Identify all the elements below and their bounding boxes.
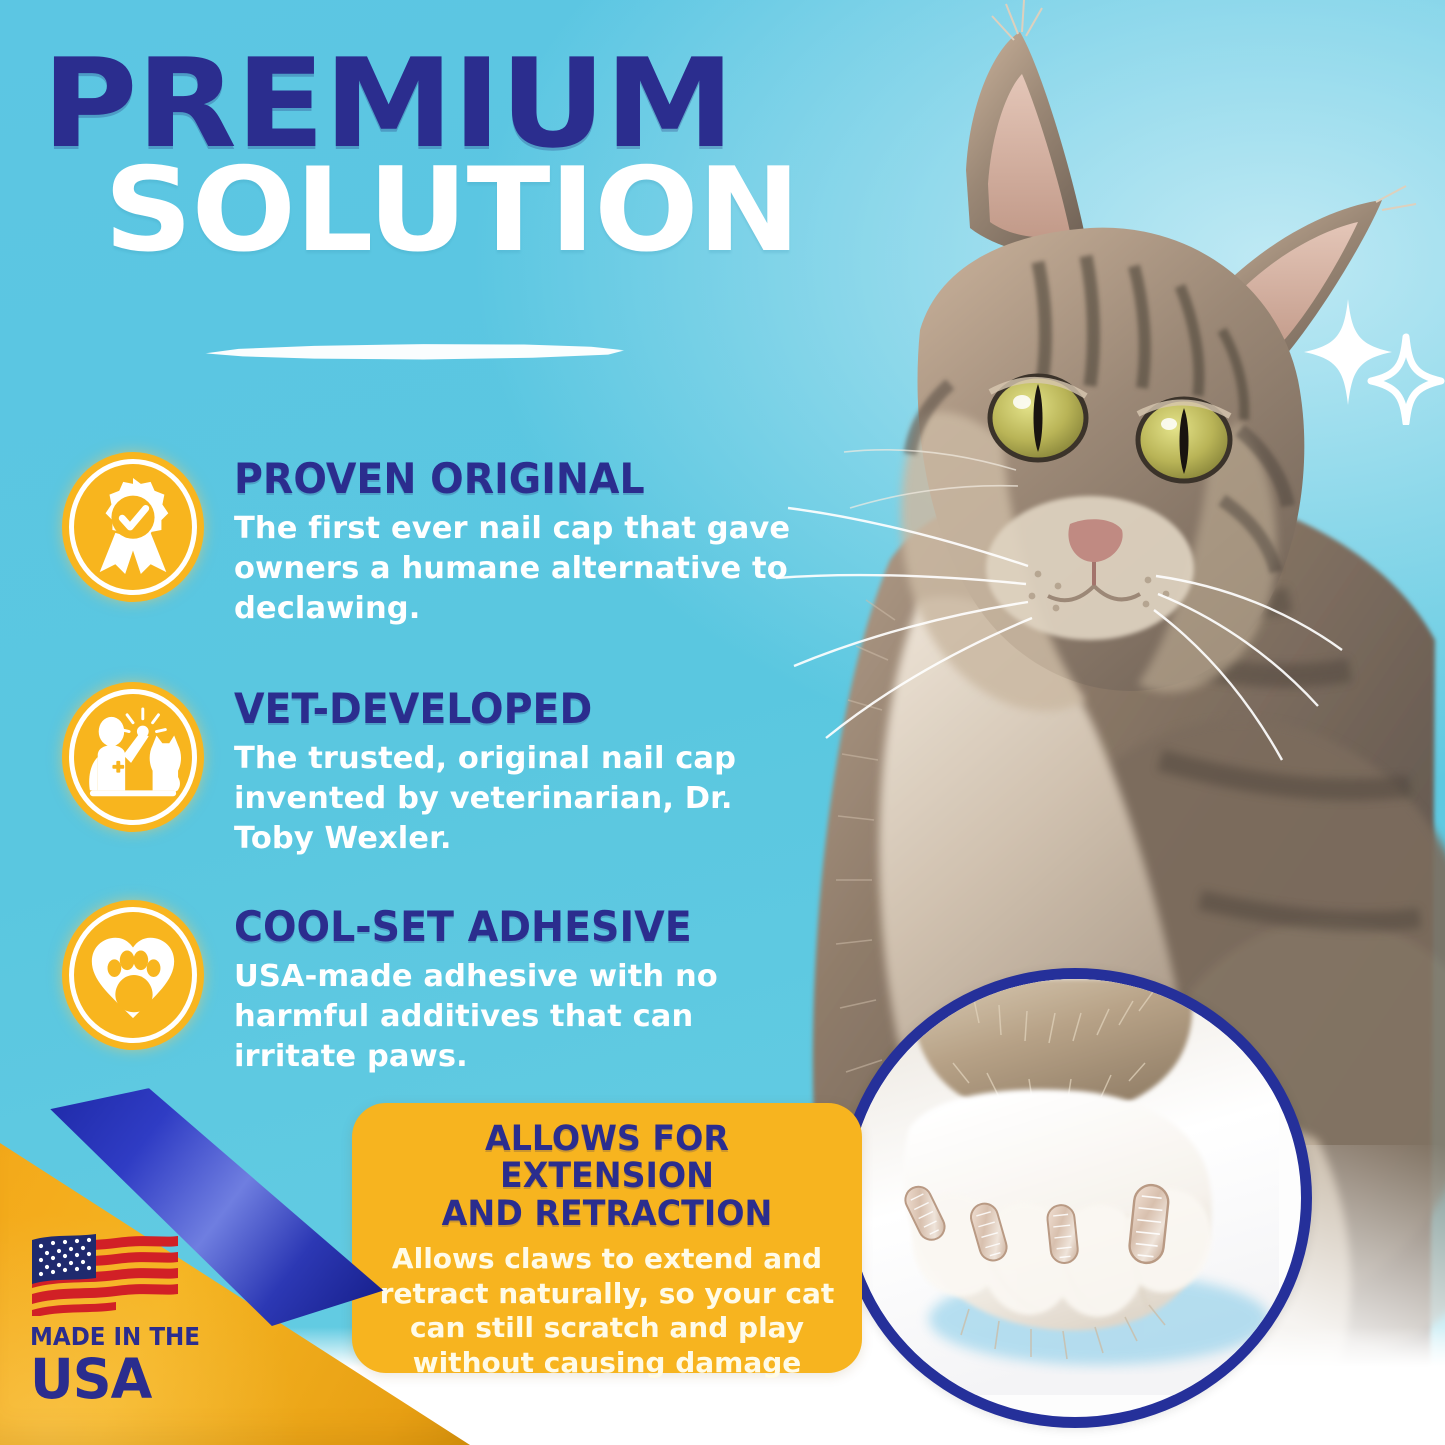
feature-body: The trusted, original nail cap invented … [234, 739, 822, 859]
feature-body: The first ever nail cap that gave owners… [234, 509, 814, 629]
usa-flag-icon [30, 1232, 180, 1316]
heart-paw-print-icon [62, 900, 204, 1050]
feature-title: PROVEN ORIGINAL [234, 458, 779, 500]
feature-text-block: COOL-SET ADHESIVE USA-made adhesive with… [234, 900, 814, 1077]
feature-cool-set-adhesive: COOL-SET ADHESIVE USA-made adhesive with… [62, 900, 822, 1077]
sparkle-decoration-group [1300, 295, 1445, 425]
made-in-the-label: MADE IN THE [30, 1324, 205, 1349]
made-in-usa-badge: MADE IN THE USA [30, 1232, 220, 1407]
feature-title: VET-DEVELOPED [234, 688, 787, 730]
feature-text-block: VET-DEVELOPED The trusted, original nail… [234, 682, 822, 859]
callout-title: ALLOWS FOR EXTENSION AND RETRACTION [386, 1121, 829, 1233]
feature-proven-original: PROVEN ORIGINAL The first ever nail cap … [62, 452, 822, 629]
callout-title-line2: AND RETRACTION [386, 1196, 829, 1233]
feature-title: COOL-SET ADHESIVE [234, 906, 779, 948]
feature-text-block: PROVEN ORIGINAL The first ever nail cap … [234, 452, 814, 629]
product-infographic: PREMIUM SOLUTION PROVEN ORIGINAL The fir… [0, 0, 1445, 1445]
vet-high-five-cat-icon [62, 682, 204, 832]
cat-paw-nail-caps-closeup [838, 968, 1312, 1428]
usa-label: USA [30, 1351, 216, 1407]
callout-title-line1: ALLOWS FOR EXTENSION [386, 1121, 829, 1196]
feature-vet-developed: VET-DEVELOPED The trusted, original nail… [62, 682, 822, 859]
extension-retraction-callout: ALLOWS FOR EXTENSION AND RETRACTION Allo… [352, 1103, 862, 1373]
sparkle-star-icon [1304, 299, 1392, 405]
feature-body: USA-made adhesive with no harmful additi… [234, 957, 814, 1077]
page-title: PREMIUM SOLUTION [42, 48, 862, 265]
headline-line-solution: SOLUTION [104, 156, 907, 265]
callout-body: Allows claws to extend and retract natur… [374, 1242, 840, 1380]
award-ribbon-check-icon [62, 452, 204, 602]
